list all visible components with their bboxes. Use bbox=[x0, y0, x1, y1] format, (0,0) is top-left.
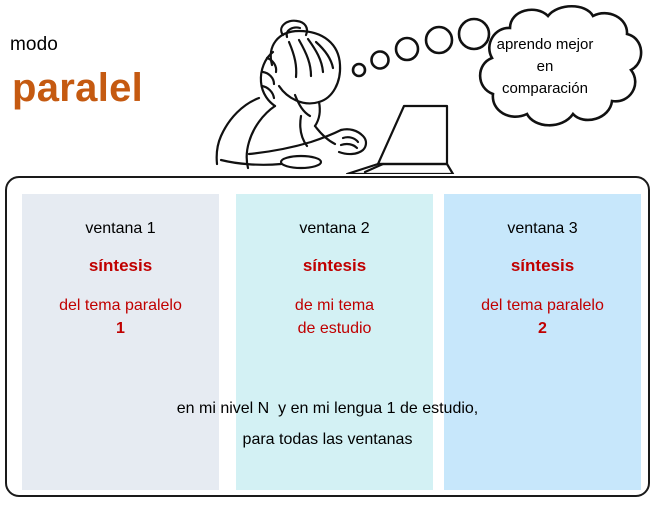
topic-line-2: de estudio bbox=[236, 317, 433, 340]
topic-line-1: de mi tema bbox=[236, 294, 433, 317]
thought-bubble-line-3: comparación bbox=[470, 78, 620, 99]
footer-line-1: en mi nivel N y en mi lengua 1 de estudi… bbox=[5, 393, 650, 424]
footer-caption: en mi nivel N y en mi lengua 1 de estudi… bbox=[5, 393, 650, 455]
topic-label: del tema paralelo 1 bbox=[22, 294, 219, 340]
header-area: modo paralel bbox=[0, 0, 657, 176]
thought-bubble-line-1: aprendo mejor bbox=[470, 34, 620, 55]
synthesis-label: síntesis bbox=[22, 256, 219, 276]
topic-line-2: 2 bbox=[444, 317, 641, 340]
topic-label: del tema paralelo 2 bbox=[444, 294, 641, 340]
window-label: ventana 1 bbox=[22, 220, 219, 238]
synthesis-label: síntesis bbox=[236, 256, 433, 276]
topic-label: de mi tema de estudio bbox=[236, 294, 433, 340]
mode-label: modo bbox=[10, 34, 58, 56]
mode-name-paralel: paralel bbox=[12, 66, 143, 111]
window-label: ventana 2 bbox=[236, 220, 433, 238]
topic-line-1: del tema paralelo bbox=[22, 294, 219, 317]
footer-line-2: para todas las ventanas bbox=[5, 424, 650, 455]
topic-line-2: 1 bbox=[22, 317, 219, 340]
topic-line-1: del tema paralelo bbox=[444, 294, 641, 317]
window-label: ventana 3 bbox=[444, 220, 641, 238]
thought-bubble-line-2: en bbox=[470, 56, 620, 77]
synthesis-label: síntesis bbox=[444, 256, 641, 276]
